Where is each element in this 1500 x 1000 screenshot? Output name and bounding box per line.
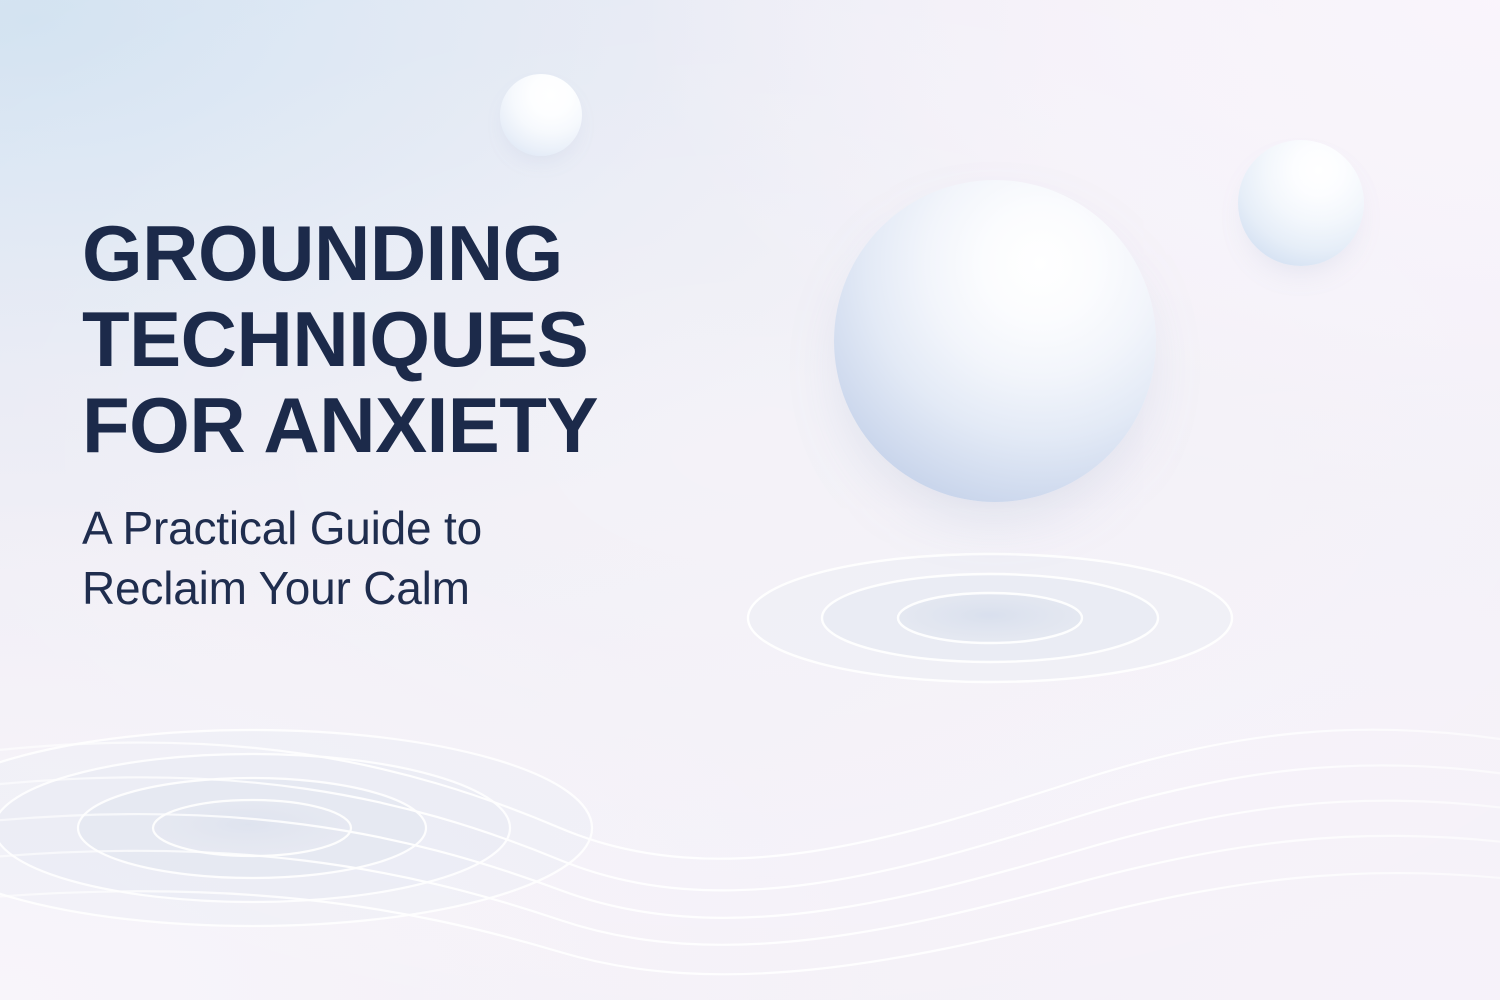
- sphere-small-right: [1238, 140, 1364, 266]
- sphere-large: [834, 180, 1156, 502]
- page-title: GROUNDING TECHNIQUES FOR ANXIETY: [82, 210, 702, 468]
- page-subtitle: A Practical Guide to Reclaim Your Calm: [82, 468, 702, 618]
- sphere-small-left: [500, 74, 582, 156]
- title-block: GROUNDING TECHNIQUES FOR ANXIETY A Pract…: [82, 210, 702, 618]
- poster-canvas: GROUNDING TECHNIQUES FOR ANXIETY A Pract…: [0, 0, 1500, 1000]
